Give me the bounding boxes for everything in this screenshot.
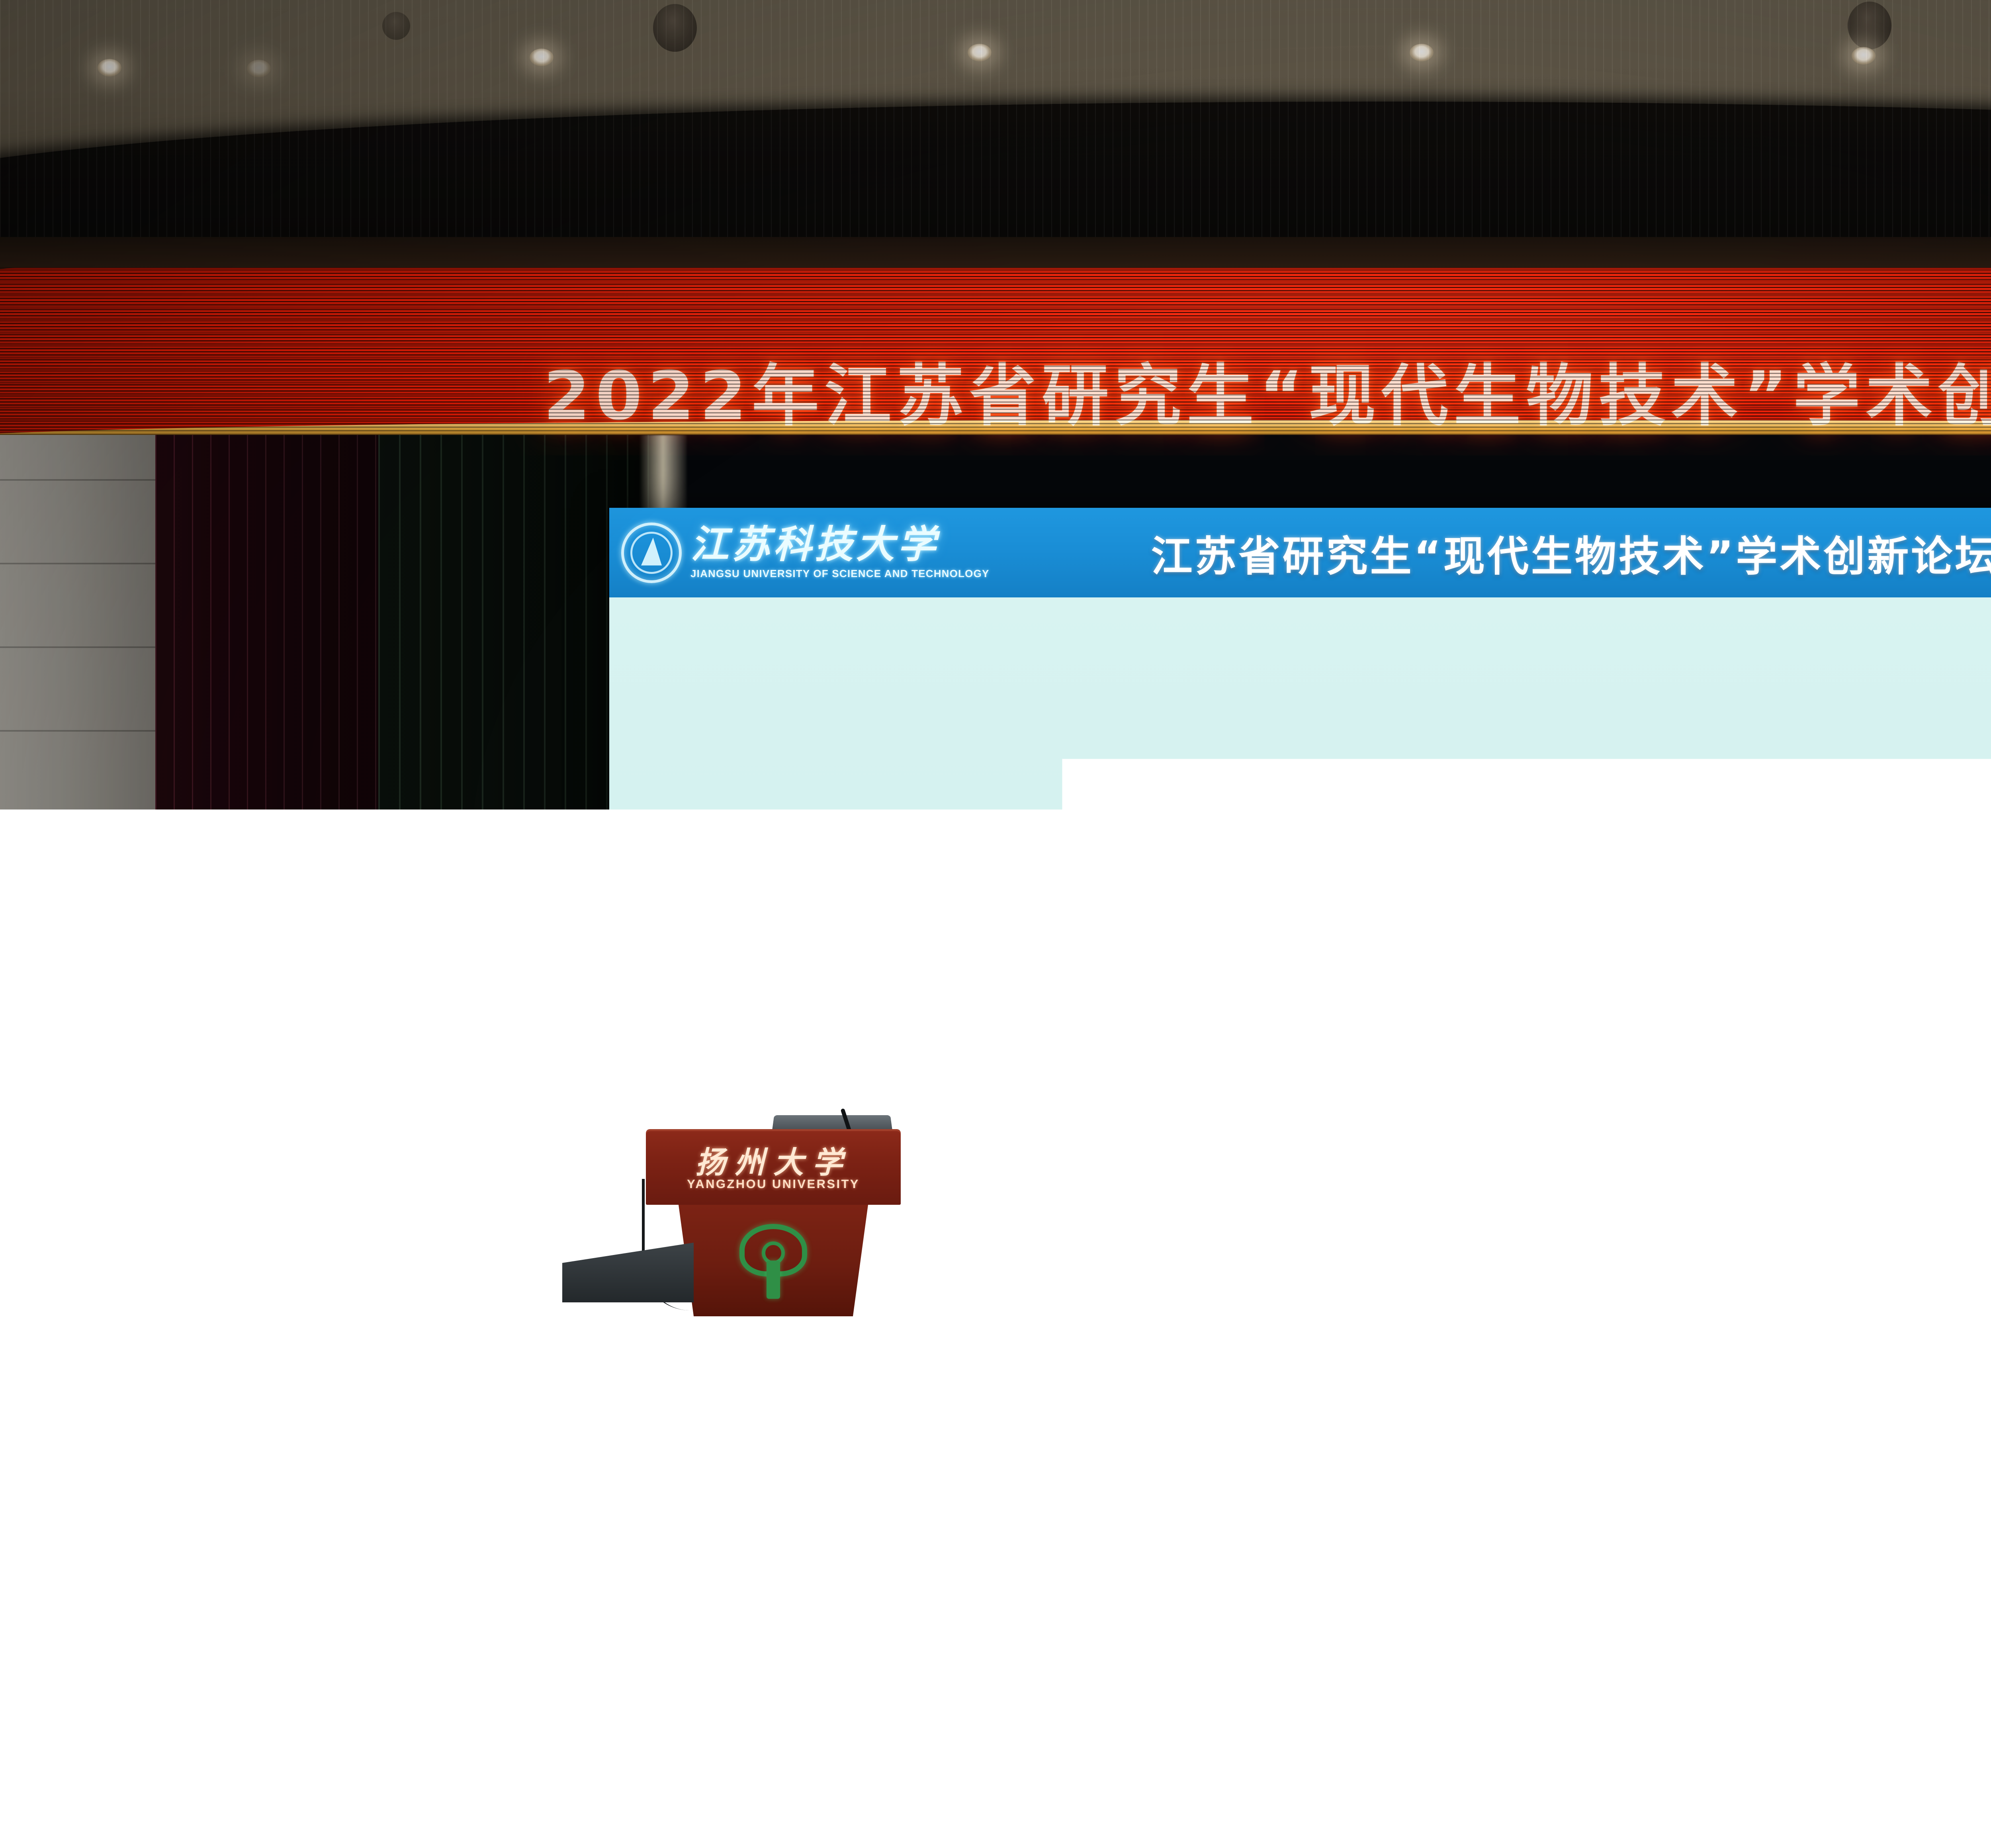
tripod-leg [777,1272,782,1591]
ceiling-downlight [968,44,992,61]
slide-header-bar: 江苏科技大学 JIANGSU UNIVERSITY OF SCIENCE AND… [609,508,1991,597]
stage-monitor-right [1939,1241,1991,1306]
audience-head [1808,1609,1907,1729]
audience-head-foreground [86,1703,205,1846]
auditorium-seat: 05 [514,1609,633,1709]
audience-head [1907,1509,1987,1605]
ceiling-speaker-can [382,12,410,40]
paper-cup [1007,1800,1039,1842]
jiangsu-university-seal-icon [621,523,682,583]
audience-head [346,1605,446,1725]
running-person-exit-icon [1378,1459,1400,1482]
seat-number-tag: 05 [560,1691,587,1705]
auditorium-photo-scene: 2022年江苏省研究生“现代生物技术”学术创新论坛 江苏科技大学 JIANGSU… [0,0,1991,1848]
audience-head [1075,1515,1153,1607]
ceiling-downlight [1410,44,1434,61]
ceiling-downlight [98,59,121,76]
logo-name-en: JIANGSU UNIVERSITY OF SCIENCE AND TECHNO… [690,568,990,580]
ceiling [0,0,1991,255]
stage-front-edge-cap [0,1315,1991,1333]
camera-tripod [695,1221,862,1591]
auditorium-seat [327,1717,470,1848]
exit-arrow-left-icon: ← [1356,1462,1374,1479]
ceiling-speaker-can [1848,2,1891,49]
podium-university-cn: 扬州大学 [646,1138,901,1182]
logo-wordmark: 江苏科技大学 JIANGSU UNIVERSITY OF SCIENCE AND… [690,525,990,580]
seat-number-tag: 06 [986,1692,1013,1705]
audience-head [311,1498,394,1597]
audience-head-foreground [593,1709,709,1848]
meeting-floating-toolbar[interactable]: 添加表情 ‹ [624,991,927,1043]
vent-label: 安全出口 [1061,1454,1095,1468]
auditorium-seat: 01 [1963,1608,1991,1708]
audience-laptop [52,1500,167,1569]
emergency-exit-sign: ← → [1340,1453,1438,1488]
led-banner-text: 2022年江苏省研究生“现代生物技术”学术创新论坛 [0,342,1991,439]
audience-head [1282,1503,1364,1603]
audience-head [1449,1509,1529,1605]
seat-row-front [0,1713,1991,1848]
ceiling-speaker-can [653,4,697,52]
auditorium-seat [1035,1717,1179,1848]
slide-header-title: 江苏省研究生“现代生物技术”学术创新论坛 [1019,523,1991,583]
audience-head-foreground [1242,1703,1362,1846]
tripod-leg [777,1301,871,1592]
vent-label: 安全出口 [539,1456,573,1471]
seat-number-tag: 03 [1289,1690,1315,1704]
audience-head [964,1505,1049,1607]
stage-floor [155,1144,1991,1315]
seat-number-tag: 04 [262,1691,288,1705]
ceiling-downlight [1852,47,1876,65]
audience-head [589,1503,671,1601]
audience-head [1744,1501,1828,1601]
toolbar-divider [682,1002,684,1032]
ceiling-downlight [247,60,271,77]
hall-wall-left [0,435,156,1317]
laptop-lid [52,1494,151,1565]
ceiling-downlight [530,49,553,66]
audience-seating-area: 04 05 03 01 02 06 [0,1486,1991,1848]
smiley-face-icon[interactable] [640,1003,668,1032]
auditorium-seat: 06 [940,1610,1059,1709]
logo-name-cn: 江苏科技大学 [690,525,990,564]
tripod-head [751,1249,806,1263]
auditorium-seat: 04 [215,1609,334,1709]
video-camera-icon [786,1219,827,1253]
audience-head [1362,1605,1463,1727]
audience-head [836,1609,936,1729]
auditorium-seat: 03 [1242,1608,1362,1708]
university-logo: 江苏科技大学 JIANGSU UNIVERSITY OF SCIENCE AND… [621,523,1019,583]
vent-label: 安全出口 [1766,1454,1800,1468]
audience-head [418,1507,496,1601]
tripod-leg [688,1301,782,1592]
ceiling-dark-soffit [0,102,1991,255]
chevron-left-icon[interactable]: ‹ [900,1003,912,1031]
sail-glyph-icon [641,538,662,566]
eyeglasses-icon [751,957,798,966]
exit-arrow-right-icon: → [1404,1462,1422,1479]
toolbar-label: 添加表情 [697,1002,887,1032]
